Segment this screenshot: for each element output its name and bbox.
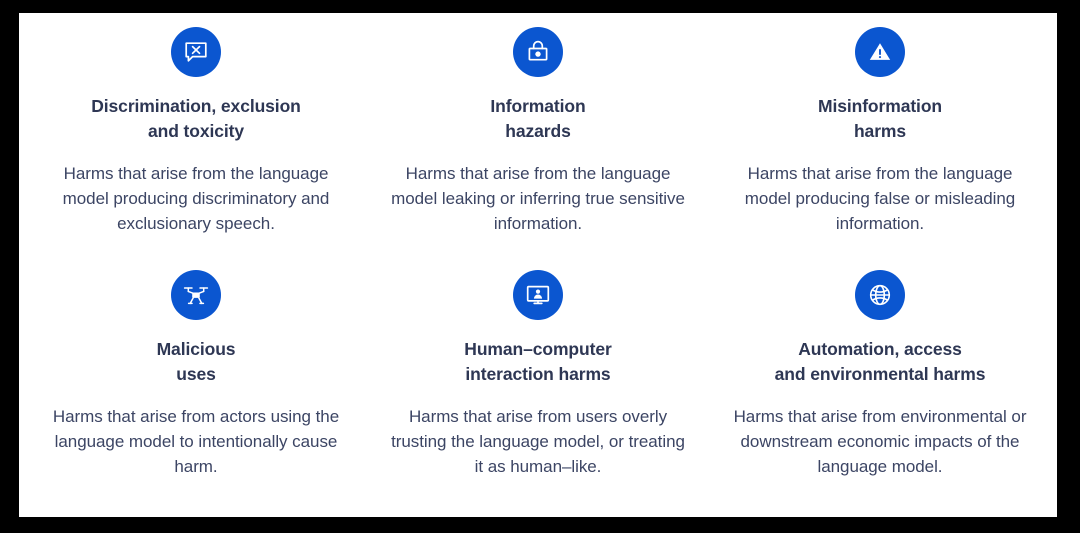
- harm-card-information-hazards: Informationhazards Harms that arise from…: [367, 27, 709, 270]
- harm-description: Harms that arise from the language model…: [43, 161, 349, 236]
- harm-card-discrimination: Discrimination, exclusionand toxicity Ha…: [25, 27, 367, 270]
- warning-triangle-icon: [855, 27, 905, 77]
- harm-title: Informationhazards: [490, 94, 585, 143]
- harm-description: Harms that arise from actors using the l…: [43, 404, 349, 479]
- harm-description: Harms that arise from the language model…: [727, 161, 1033, 236]
- harm-card-automation: Automation, accessand environmental harm…: [709, 270, 1051, 513]
- monitor-person-icon: [513, 270, 563, 320]
- harm-title: Discrimination, exclusionand toxicity: [91, 94, 301, 143]
- harm-card-hci: Human–computerinteraction harms Harms th…: [367, 270, 709, 513]
- harm-card-misinformation: Misinformationharms Harms that arise fro…: [709, 27, 1051, 270]
- speech-bubble-x-icon: [171, 27, 221, 77]
- harm-description: Harms that arise from the language model…: [385, 161, 691, 236]
- harm-card-malicious-uses: Malicioususes Harms that arise from acto…: [25, 270, 367, 513]
- padlock-icon: [513, 27, 563, 77]
- harm-title: Automation, accessand environmental harm…: [775, 337, 986, 386]
- drone-icon: [171, 270, 221, 320]
- harm-description: Harms that arise from environmental or d…: [727, 404, 1033, 479]
- harm-title: Malicioususes: [157, 337, 236, 386]
- harm-description: Harms that arise from users overly trust…: [385, 404, 691, 479]
- harms-taxonomy-card: Discrimination, exclusionand toxicity Ha…: [19, 13, 1057, 517]
- harm-title: Human–computerinteraction harms: [464, 337, 611, 386]
- harm-title: Misinformationharms: [818, 94, 942, 143]
- globe-icon: [855, 270, 905, 320]
- harms-grid: Discrimination, exclusionand toxicity Ha…: [19, 13, 1057, 517]
